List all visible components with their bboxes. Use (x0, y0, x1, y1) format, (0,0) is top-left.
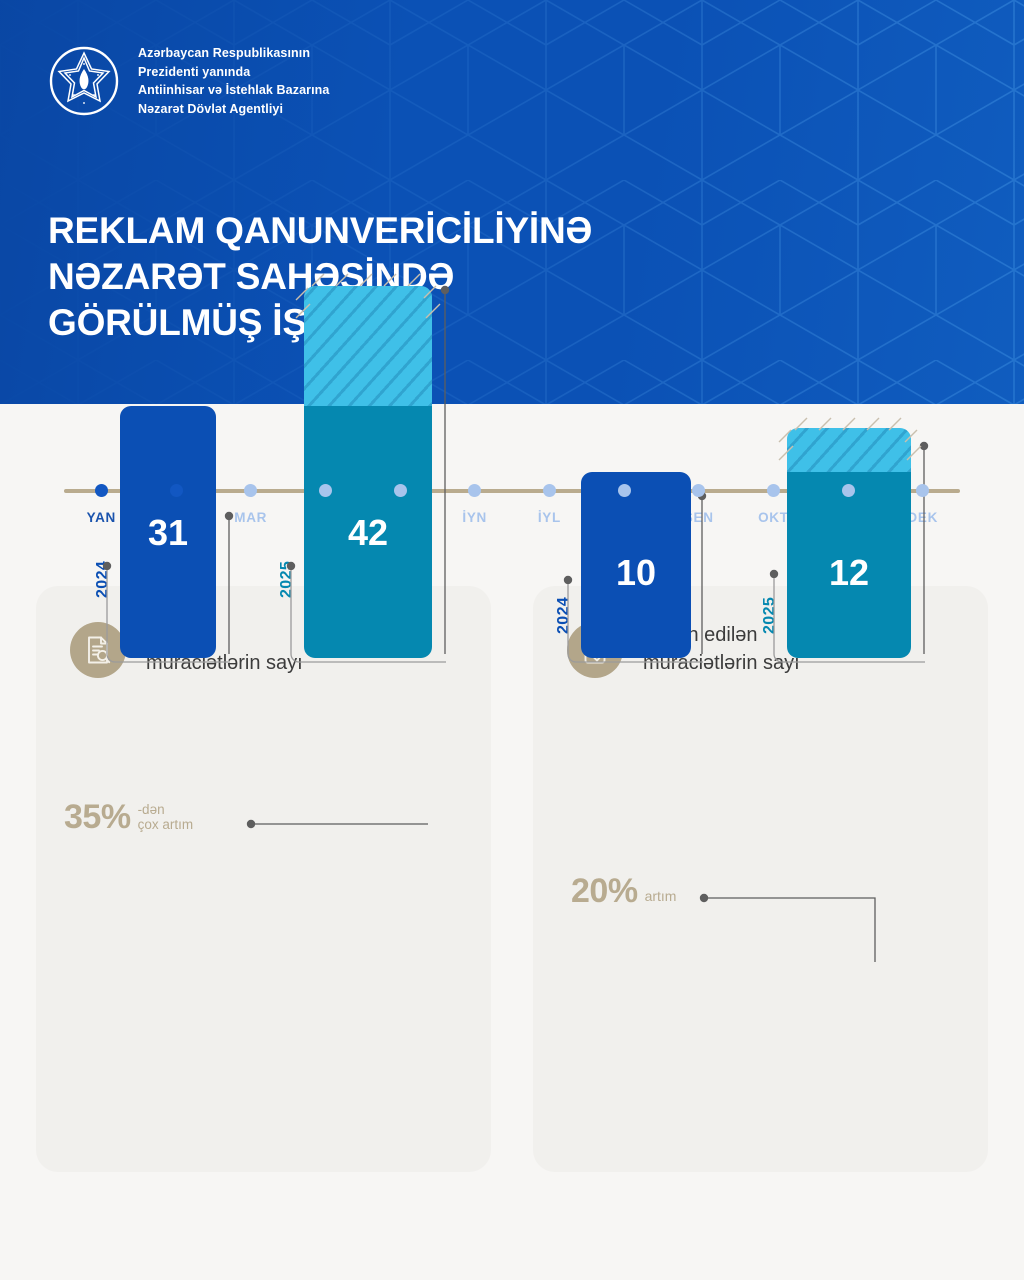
timeline-dot (394, 484, 407, 497)
agency-name: Azərbaycan Respublikasının Prezidenti ya… (138, 44, 329, 118)
growth-percent: 35% (64, 802, 131, 833)
growth-suffix: artım (645, 889, 677, 908)
bar-bracket-2024 (98, 498, 238, 678)
stat-card-temin-edilen: Təmin edilən müraciətlərin sayı 20% artı… (533, 586, 988, 1172)
timeline-dot (95, 484, 108, 497)
timeline-dot (543, 484, 556, 497)
bar-bracket-2024 (559, 478, 711, 678)
growth-suffix: -dən çox artım (138, 802, 194, 833)
timeline-dot (244, 484, 257, 497)
timeline-dot (468, 484, 481, 497)
stat-card-baxilan: Baxılan müraciətlərin sayı 35% -dən çox … (36, 586, 491, 1172)
bar-bracket-2025 (282, 278, 454, 678)
growth-leader-line (246, 814, 446, 834)
azerbaijan-state-emblem-icon (48, 45, 120, 117)
page-header: Azərbaycan Respublikasının Prezidenti ya… (0, 0, 1024, 404)
growth-hatch-ticks (294, 274, 444, 336)
growth-leader-line (699, 888, 891, 968)
timeline-dot (170, 484, 183, 497)
timeline-dot (618, 484, 631, 497)
stat-cards: Baxılan müraciətlərin sayı 35% -dən çox … (36, 586, 988, 1172)
growth-percent: 20% (571, 876, 638, 907)
agency-logo-block: Azərbaycan Respublikasının Prezidenti ya… (48, 44, 329, 118)
growth-hatch-ticks (777, 418, 923, 478)
bar-chart: 35% -dən çox artım 31 2024 (36, 706, 491, 1172)
timeline-dot (842, 484, 855, 497)
timeline-dot (767, 484, 780, 497)
timeline-dot (319, 484, 332, 497)
growth-annotation: 35% -dən çox artım (64, 802, 193, 833)
growth-annotation: 20% artım (571, 876, 676, 907)
bar-chart: 20% artım 10 2024 (533, 706, 988, 1172)
